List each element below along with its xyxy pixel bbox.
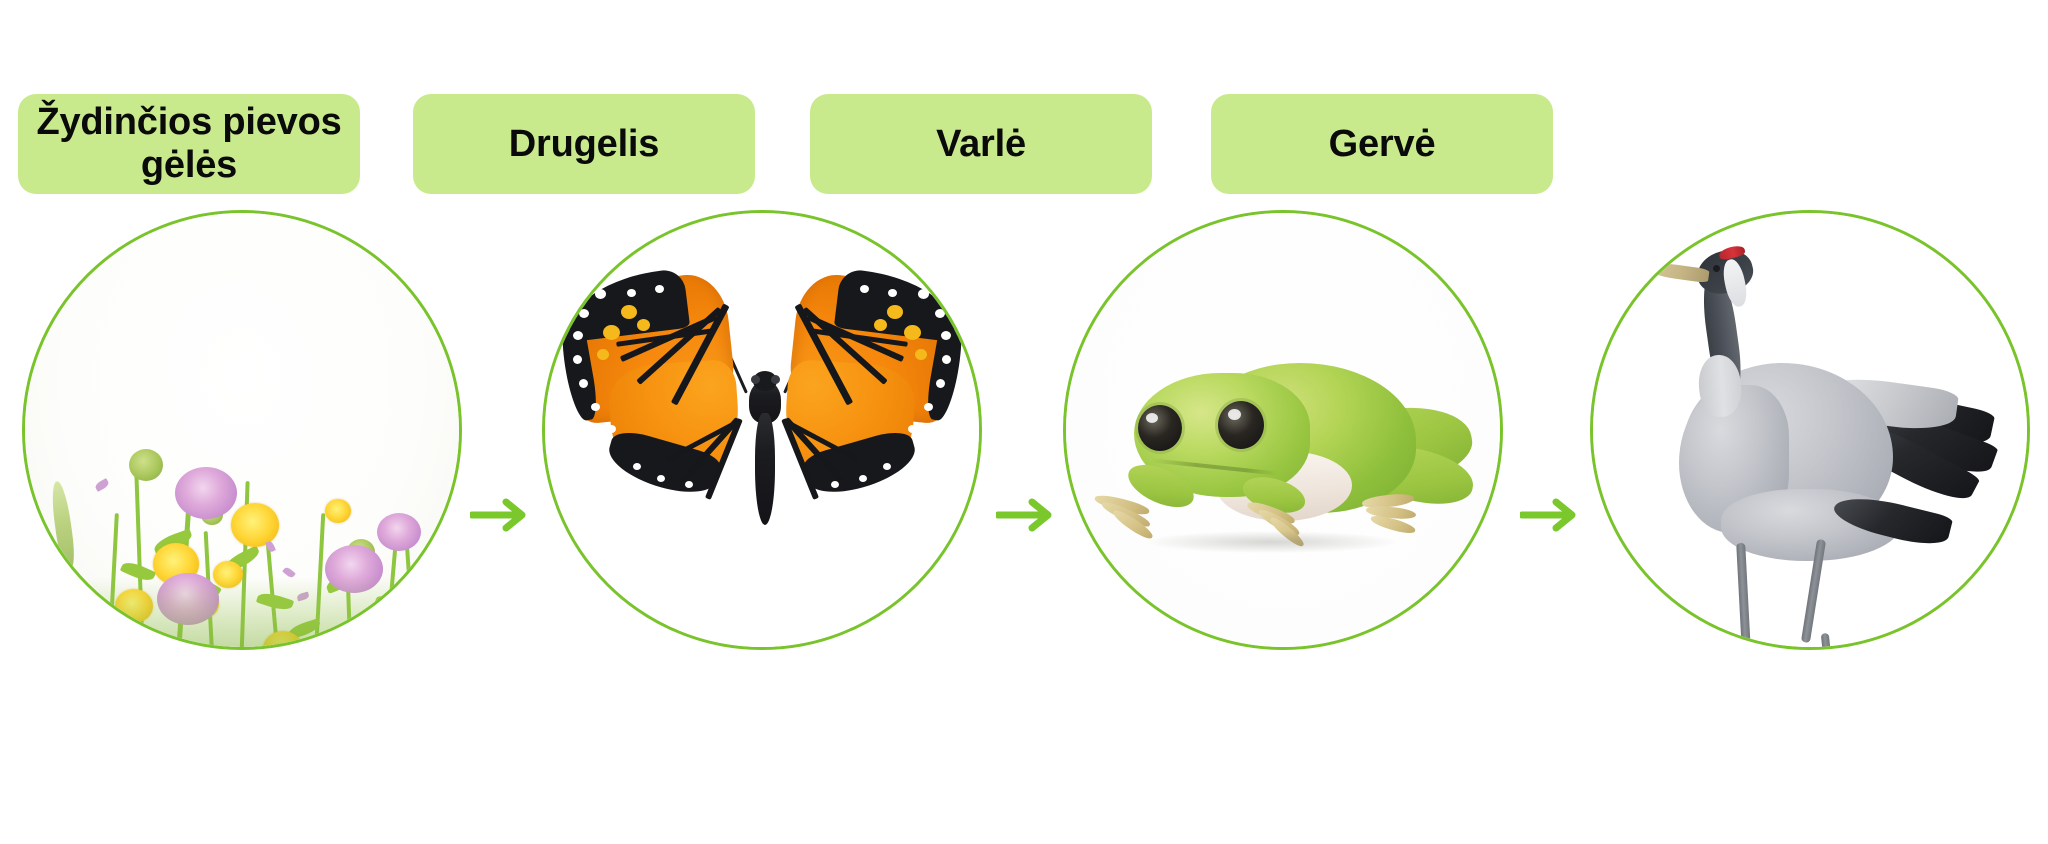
stage-label-text-4: Gervė [1329,123,1436,166]
crane-leg-left [1736,543,1751,650]
wing-spot-white [942,355,951,364]
floating-petal [94,478,110,492]
wing-spot-white [936,379,945,388]
stage-image-circle-1[interactable] [22,210,462,650]
frog-eye-left [1138,405,1182,451]
arrow-right-svg [1520,498,1582,532]
wing-spot-white [607,425,616,433]
wing-spot-yellow [621,305,637,319]
meadow-ground-haze [25,577,459,647]
frog-photo [1066,213,1500,647]
butterfly-abdomen [755,413,775,525]
frog-eye-glint-right [1228,409,1241,420]
wing-spot-white [579,309,589,318]
wing-spot-white [860,285,869,293]
butterfly-eye-left [751,375,760,384]
wing-spot-white [627,289,636,297]
frog-shadow [1146,531,1396,553]
wing-spot-white [657,475,665,482]
wing-spot-white [579,379,588,388]
crane-leg-left-lower [1731,637,1742,650]
pink-clover-flower [377,513,421,551]
wing-spot-white [685,481,693,488]
frog-eye-right [1218,401,1264,449]
wing-spot-white [573,331,583,340]
wing-spot-white [633,463,641,470]
wing-spot-white [918,289,929,299]
wing-spot-yellow [887,305,903,319]
arrow-right-icon-2 [996,498,1058,532]
wing-spot-white [591,403,600,411]
crane-photo [1593,213,2027,647]
wing-spot-yellow [874,319,887,331]
stage-label-4[interactable]: Gervė [1211,94,1553,194]
wing-spot-white [883,463,891,470]
frog-eye-glint-left [1146,413,1158,423]
arrow-right-icon-3 [1520,498,1582,532]
wing-spot-white [941,331,951,340]
arrow-right-svg [470,498,532,532]
wing-spot-white [908,425,917,433]
stage-label-text-3: Varlė [936,123,1026,166]
meadow-flowers-photo [25,213,459,647]
wing-spot-yellow [603,325,620,340]
stage-label-3[interactable]: Varlė [810,94,1152,194]
food-chain-diagram: Žydinčios pievos gėlės Drugelis Varlė Ge… [0,0,2048,844]
wing-spot-white [831,481,839,488]
stage-label-text-2: Drugelis [509,123,659,166]
wing-spot-yellow [904,325,921,340]
arrow-right-icon-1 [470,498,532,532]
stage-image-circle-3[interactable] [1063,210,1503,650]
wing-spot-yellow [915,349,927,360]
butterfly-photo [545,213,979,647]
crane-leg-right-lower [1821,633,1838,650]
wing-spot-yellow [637,319,650,331]
wing-spot-yellow [597,349,609,360]
crane-eye [1713,265,1720,272]
stage-image-circle-4[interactable] [1590,210,2030,650]
pink-clover-flower [175,467,237,519]
stage-label-2[interactable]: Drugelis [413,94,755,194]
stage-image-circle-2[interactable] [542,210,982,650]
wing-spot-white [859,475,867,482]
wing-spot-white [573,355,582,364]
grass-spikelet [49,480,77,569]
wing-spot-white [595,289,606,299]
yellow-flower [325,499,351,523]
yellow-flower [231,503,279,547]
butterfly-eye-right [771,375,780,384]
wing-spot-white [935,309,945,318]
stage-label-1[interactable]: Žydinčios pievos gėlės [18,94,360,194]
stage-label-text-1: Žydinčios pievos gėlės [32,101,346,186]
arrow-right-svg [996,498,1058,532]
flower-bud [129,449,163,481]
wing-spot-white [888,289,897,297]
wing-spot-white [924,403,933,411]
wing-spot-white [655,285,664,293]
